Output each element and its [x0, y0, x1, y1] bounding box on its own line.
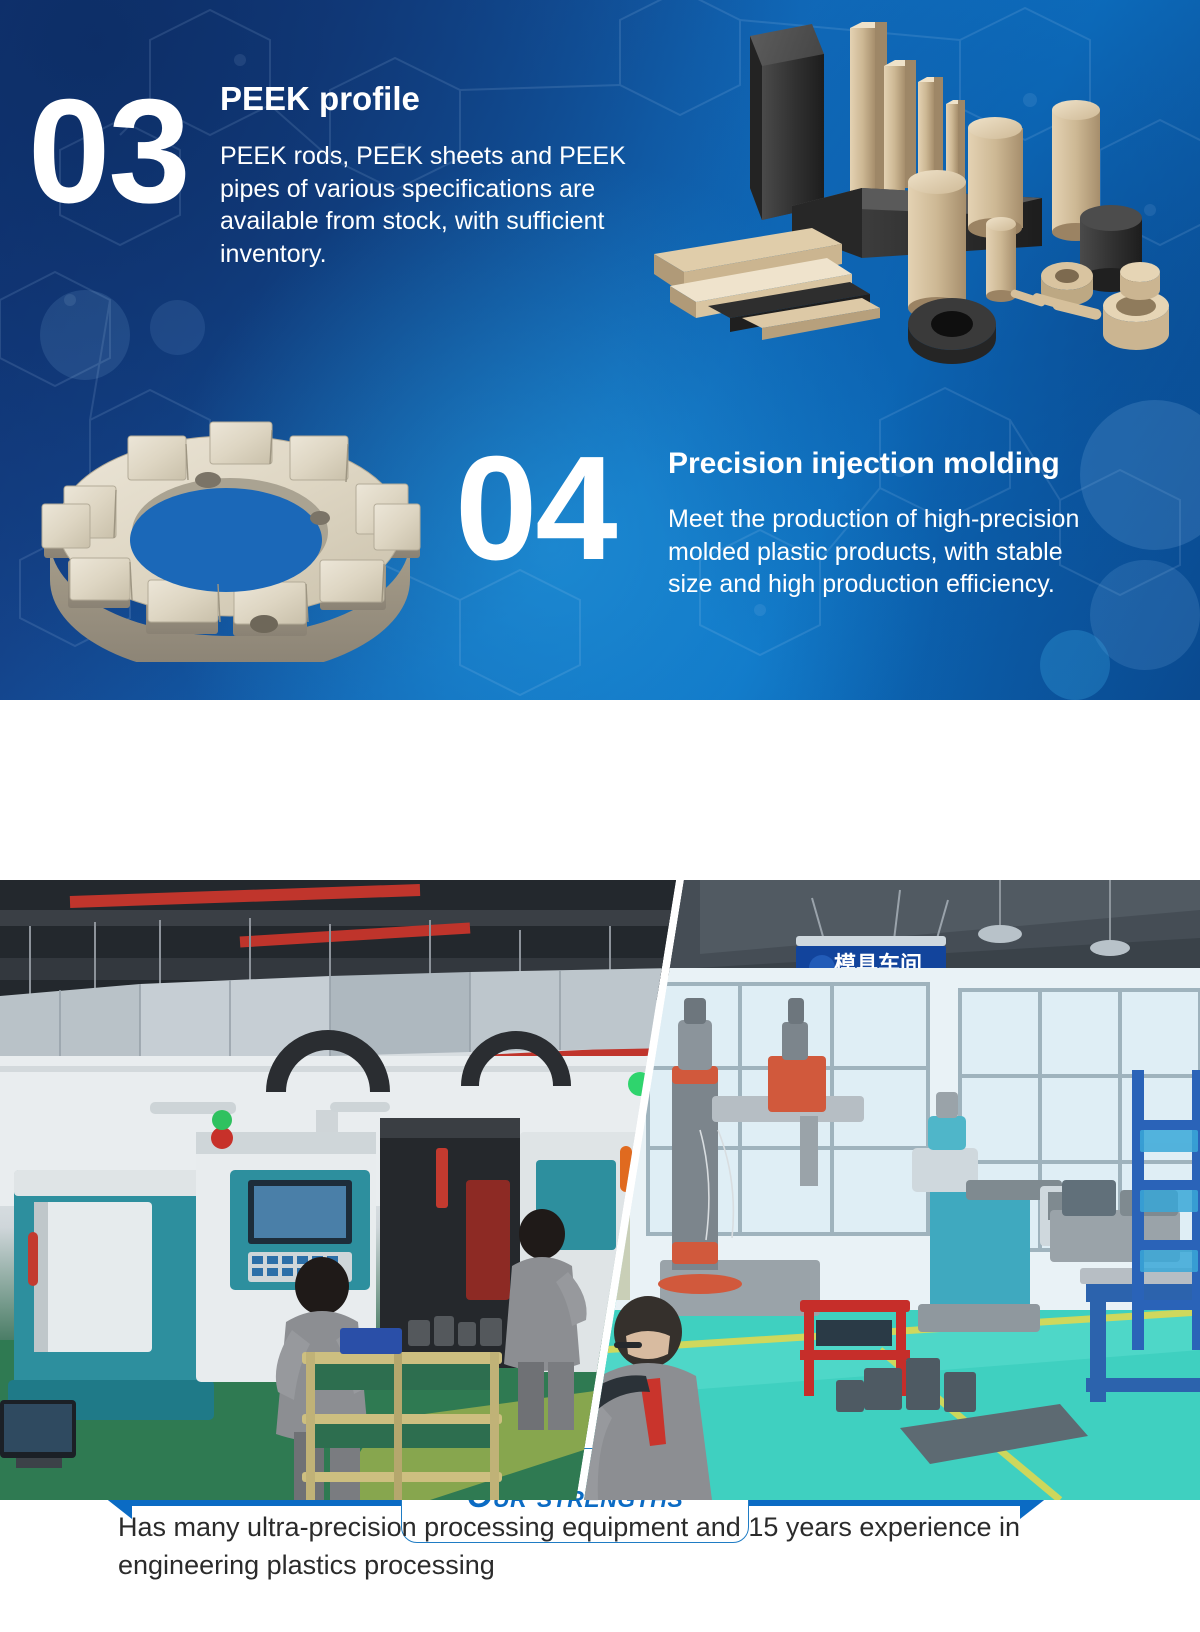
- strengths-banner: Our strengths: [0, 700, 1200, 880]
- workshop-photo-pair: 模具车间 Mold Workshop: [0, 880, 1200, 1500]
- step-title-04: Precision injection molding: [668, 447, 1060, 481]
- peek-profiles-image: [612, 6, 1200, 366]
- step-title-03: PEEK profile: [220, 80, 420, 118]
- bottom-caption: Has many ultra-precision processing equi…: [118, 1508, 1108, 1585]
- bokeh-circle-3: [40, 290, 130, 380]
- hero-panel: 03 PEEK profile PEEK rods, PEEK sheets a…: [0, 0, 1200, 700]
- cnc-machining-workshop-photo: [0, 880, 676, 1500]
- marketing-page: 03 PEEK profile PEEK rods, PEEK sheets a…: [0, 0, 1200, 1632]
- peek-gear-ring-image: [28, 392, 432, 662]
- step-number-04: 04: [455, 435, 616, 583]
- step-body-04: Meet the production of high-precision mo…: [668, 503, 1098, 601]
- step-body-03: PEEK rods, PEEK sheets and PEEK pipes of…: [220, 140, 652, 270]
- bokeh-circle-4: [150, 300, 205, 355]
- step-number-03: 03: [28, 78, 189, 226]
- bokeh-circle-5: [1040, 630, 1110, 700]
